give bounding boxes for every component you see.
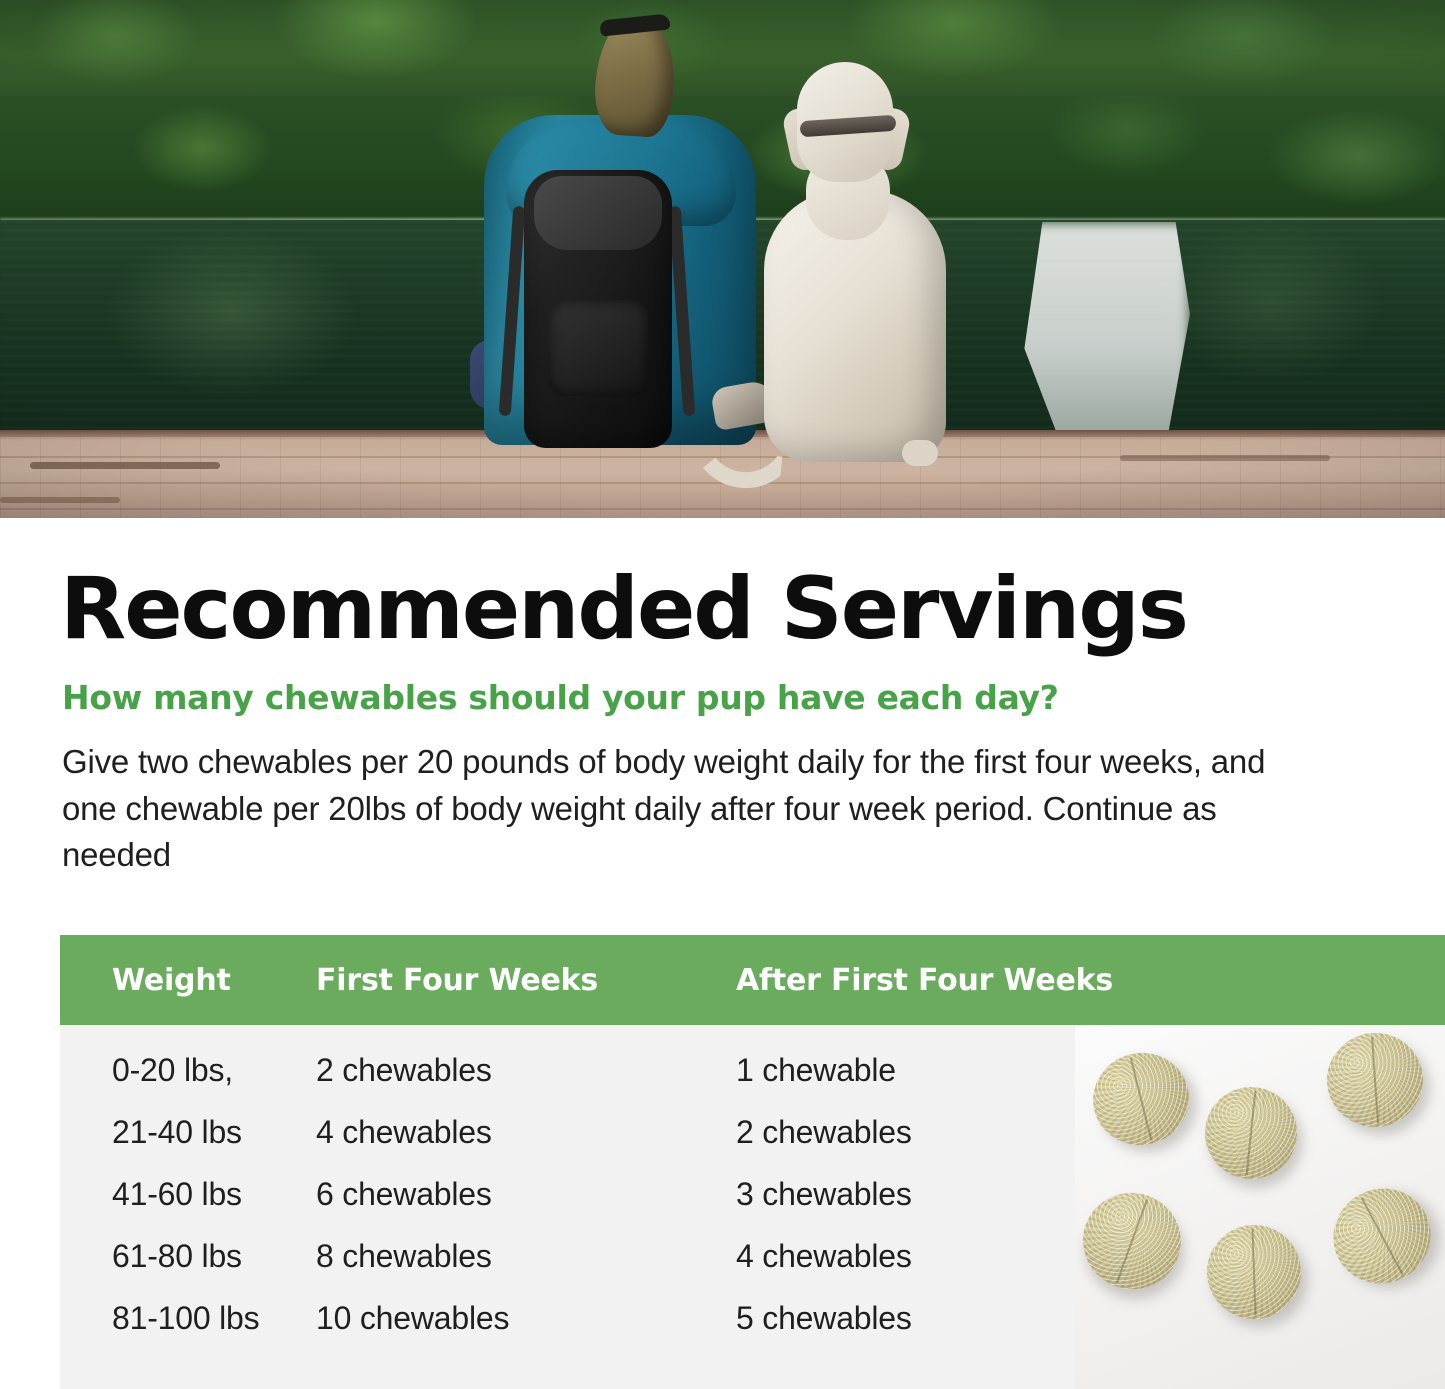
cell-first-four-weeks: 8 chewables <box>316 1238 736 1275</box>
dosage-description: Give two chewables per 20 pounds of body… <box>0 717 1345 880</box>
dosage-table: Weight First Four Weeks After First Four… <box>60 935 1445 1389</box>
chewable-tablet <box>1205 1223 1302 1320</box>
backpack-pocket <box>548 300 648 396</box>
column-header-weight: Weight <box>60 963 316 998</box>
hero-photo <box>0 0 1445 518</box>
cell-weight: 61-80 lbs <box>60 1238 316 1275</box>
content-section: Recommended Servings How many chewables … <box>0 518 1445 879</box>
section-subtitle: How many chewables should your pup have … <box>0 654 1445 717</box>
chewable-tablets-photo <box>1075 1025 1445 1389</box>
chewable-tablet <box>1083 1043 1198 1155</box>
backpack-lid <box>534 176 662 250</box>
cell-first-four-weeks: 10 chewables <box>316 1300 736 1337</box>
cell-first-four-weeks: 4 chewables <box>316 1114 736 1151</box>
chewable-tablet <box>1324 1030 1426 1130</box>
cell-first-four-weeks: 6 chewables <box>316 1176 736 1213</box>
dock-plank-gap <box>1120 455 1330 461</box>
chewable-tablet <box>1317 1171 1445 1300</box>
chewable-tablet <box>1075 1179 1194 1303</box>
page-title: Recommended Servings <box>0 518 1445 654</box>
chewable-tablet <box>1200 1082 1301 1183</box>
column-header-after-first-four-weeks: After First Four Weeks <box>736 963 1445 998</box>
dock-plank-gap <box>30 462 220 469</box>
table-header-row: Weight First Four Weeks After First Four… <box>60 935 1445 1025</box>
cell-weight: 41-60 lbs <box>60 1176 316 1213</box>
cell-first-four-weeks: 2 chewables <box>316 1052 736 1089</box>
column-header-first-four-weeks: First Four Weeks <box>316 963 736 998</box>
cell-weight: 0-20 lbs, <box>60 1052 316 1089</box>
cell-weight: 81-100 lbs <box>60 1300 316 1337</box>
cell-weight: 21-40 lbs <box>60 1114 316 1151</box>
dog-paw <box>902 440 938 466</box>
dock-plank-gap <box>0 497 120 503</box>
